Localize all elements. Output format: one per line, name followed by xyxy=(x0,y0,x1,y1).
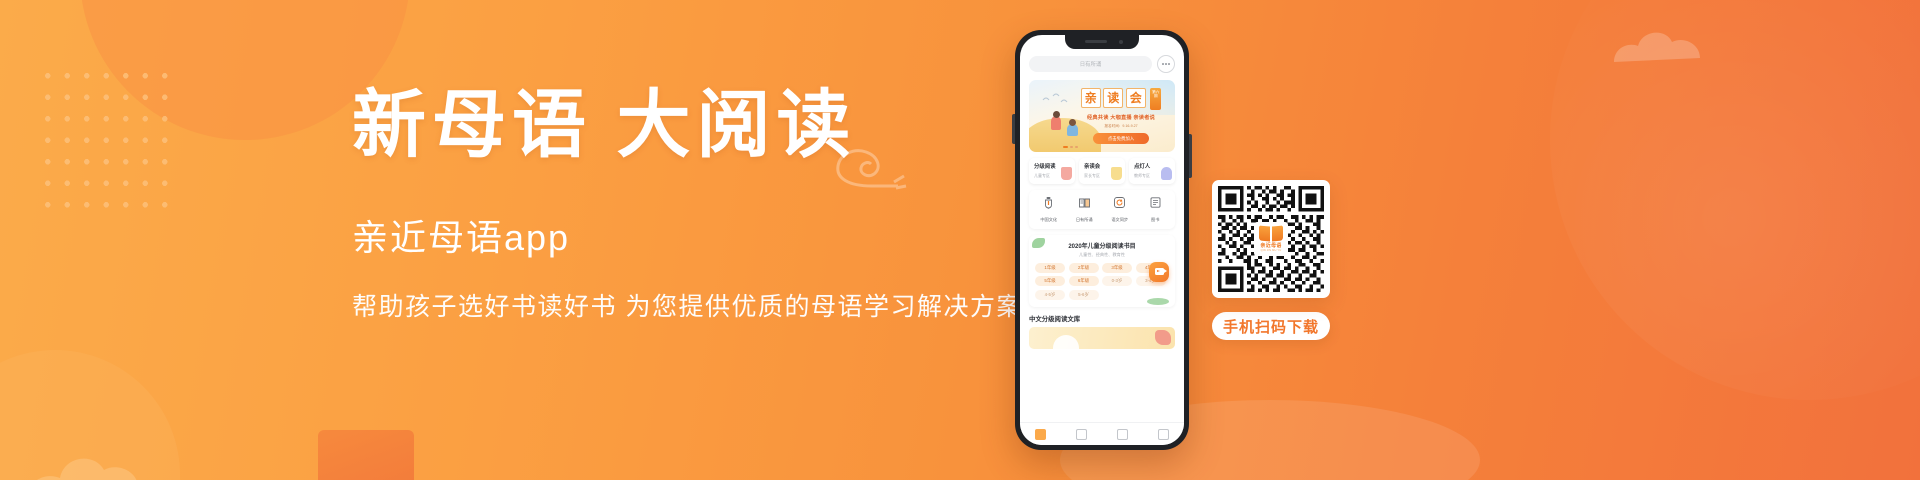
grade-chip[interactable]: 1年级 xyxy=(1035,263,1065,273)
qr-logo-pinyin: QIN JIN MU YU xyxy=(1261,249,1282,252)
search-input[interactable]: 日有所诵 xyxy=(1029,56,1152,72)
bottom-tab-bar xyxy=(1020,422,1184,445)
category-card[interactable]: 亲读会 家长专区 xyxy=(1079,158,1125,184)
qr-code[interactable]: 亲近母语 QIN JIN MU YU xyxy=(1212,180,1330,298)
tab-profile[interactable] xyxy=(1143,429,1184,440)
quick-icon-row: 中国文化 日有所诵 xyxy=(1029,190,1175,229)
quick-icon-label: 语文同步 xyxy=(1102,217,1138,223)
tab-graded-reading[interactable] xyxy=(1061,429,1102,440)
open-book-icon xyxy=(1078,196,1091,209)
app-search-bar[interactable]: 日有所诵 xyxy=(1029,55,1175,73)
booklist-title: 2020年儿童分级阅读书目 xyxy=(1035,241,1169,250)
grade-chip[interactable]: 2年级 xyxy=(1069,263,1099,273)
section-banner[interactable] xyxy=(1029,327,1175,349)
banner-tagline: 帮助孩子选好书读好书 为您提供优质的母语学习解决方案 xyxy=(352,287,1032,323)
promo-subtitle: 经典共读 大咖直播 亲读者说 xyxy=(1073,114,1169,121)
promo-title: 亲 读 会 第六期 xyxy=(1073,88,1169,110)
age-chip[interactable]: 5-6岁 xyxy=(1069,290,1099,300)
phone-screen: 日有所诵 亲 读 会 xyxy=(1020,35,1184,445)
tab-home[interactable] xyxy=(1020,429,1061,440)
booklist-card[interactable]: 2020年儿童分级阅读书目 儿童性、经典性、教育性 1年级 2年级 3年级 4年… xyxy=(1029,235,1175,307)
leaf-decor-icon xyxy=(1147,298,1169,305)
download-block: 亲近母语 QIN JIN MU YU 手机扫码下载 xyxy=(1212,180,1330,340)
promo-child-1 xyxy=(1051,116,1061,130)
quick-icon-label: 日有所诵 xyxy=(1067,217,1103,223)
grade-chip[interactable]: 5年级 xyxy=(1035,276,1065,286)
qr-center-logo: 亲近母语 QIN JIN MU YU xyxy=(1254,222,1288,256)
promo-title-char: 读 xyxy=(1103,88,1123,108)
person-icon xyxy=(1161,167,1172,180)
age-chip[interactable]: 4-5岁 xyxy=(1035,290,1065,300)
home-icon xyxy=(1035,429,1046,440)
phone-mockup: 日有所诵 亲 读 会 xyxy=(1015,30,1189,450)
promo-date: 报名时间：9.16-9.27 xyxy=(1073,124,1169,129)
refresh-circle-icon xyxy=(1113,196,1126,209)
booklist-subtitle: 儿童性、经典性、教育性 xyxy=(1035,252,1169,258)
promo-ribbon: 第六期 xyxy=(1150,88,1161,110)
lantern-icon xyxy=(1042,196,1055,209)
bookmark-icon xyxy=(1111,167,1122,180)
decor-dot-grid xyxy=(38,65,176,215)
promo-title-char: 会 xyxy=(1126,88,1146,108)
grade-chip-grid: 1年级 2年级 3年级 4年级 5年级 6年级 0-3岁 3-4岁 4-5岁 5… xyxy=(1035,263,1169,300)
tab-club[interactable] xyxy=(1102,429,1143,440)
decor-cloud-top-right-icon xyxy=(1610,14,1730,68)
category-card-row: 分级阅读 儿童专区 亲读会 家长专区 点灯人 教师专区 xyxy=(1029,158,1175,184)
carousel-dots[interactable] xyxy=(1063,146,1078,148)
quick-icon-item[interactable]: 语文同步 xyxy=(1102,196,1138,223)
book-logo-icon xyxy=(1259,226,1283,241)
grade-chip[interactable]: 6年级 xyxy=(1069,276,1099,286)
section-title: 中文分级阅读文库 xyxy=(1029,314,1175,323)
app-name: 亲近母语app xyxy=(352,209,1032,261)
quick-icon-item[interactable]: 日有所诵 xyxy=(1067,196,1103,223)
decor-light-arc xyxy=(1550,0,1920,400)
decor-cube xyxy=(318,430,414,480)
club-icon xyxy=(1117,429,1128,440)
promo-banner: 新母语 大阅读 亲近母语app 帮助孩子选好书读好书 为您提供优质的母语学习解决… xyxy=(0,0,1920,480)
quick-icon-item[interactable]: 图书 xyxy=(1138,196,1174,223)
grade-chip[interactable]: 3年级 xyxy=(1102,263,1132,273)
banner-copy: 新母语 大阅读 亲近母语app 帮助孩子选好书读好书 为您提供优质的母语学习解决… xyxy=(352,86,1032,323)
video-play-icon[interactable] xyxy=(1149,262,1169,282)
phone-notch xyxy=(1065,35,1139,49)
quick-icon-item[interactable]: 中国文化 xyxy=(1031,196,1067,223)
sun-decor-icon xyxy=(1053,335,1079,349)
more-menu-icon[interactable] xyxy=(1157,55,1175,73)
quick-icon-label: 中国文化 xyxy=(1031,217,1067,223)
promo-card[interactable]: 亲 读 会 第六期 经典共读 大咖直播 亲读者说 报名时间：9.16-9.27 … xyxy=(1029,80,1175,152)
blob-decor-icon xyxy=(1155,330,1171,345)
book-icon xyxy=(1149,196,1162,209)
download-button[interactable]: 手机扫码下载 xyxy=(1212,312,1330,340)
birds-icon xyxy=(1041,92,1075,106)
promo-join-button[interactable]: 点击免费加入 xyxy=(1093,133,1149,144)
profile-icon xyxy=(1158,429,1169,440)
bookmark-icon xyxy=(1061,167,1072,180)
age-chip[interactable]: 0-3岁 xyxy=(1102,276,1132,286)
decor-cloud-icon xyxy=(22,422,192,480)
category-card[interactable]: 分级阅读 儿童专区 xyxy=(1029,158,1075,184)
page-title: 新母语 大阅读 xyxy=(352,86,1032,167)
promo-title-char: 亲 xyxy=(1081,88,1101,108)
reading-icon xyxy=(1076,429,1087,440)
quick-icon-label: 图书 xyxy=(1138,217,1174,223)
category-card[interactable]: 点灯人 教师专区 xyxy=(1129,158,1175,184)
